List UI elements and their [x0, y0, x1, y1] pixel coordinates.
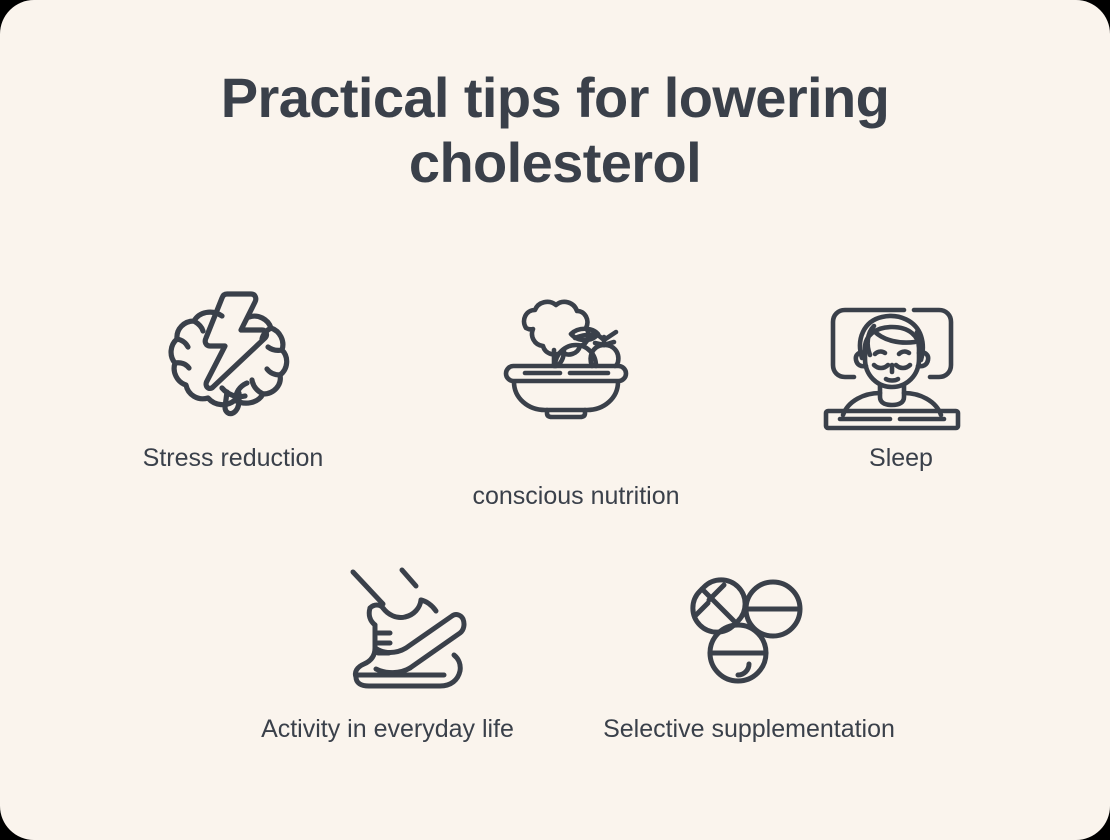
pills-capsule-icon — [672, 560, 804, 684]
tip-label: Selective supplementation — [500, 714, 998, 744]
running-shoe-icon — [348, 562, 470, 690]
tip-label: Sleep — [718, 443, 1084, 473]
infographic-card: Practical tips for lowering cholesterol … — [0, 0, 1110, 840]
page-title: Practical tips for lowering cholesterol — [0, 66, 1110, 196]
vegetable-bowl-icon — [492, 298, 640, 420]
tip-label: conscious nutrition — [330, 481, 822, 511]
tip-label: Stress reduction — [0, 443, 466, 473]
brain-lightning-icon — [165, 288, 300, 418]
sleeping-person-icon — [818, 303, 966, 433]
